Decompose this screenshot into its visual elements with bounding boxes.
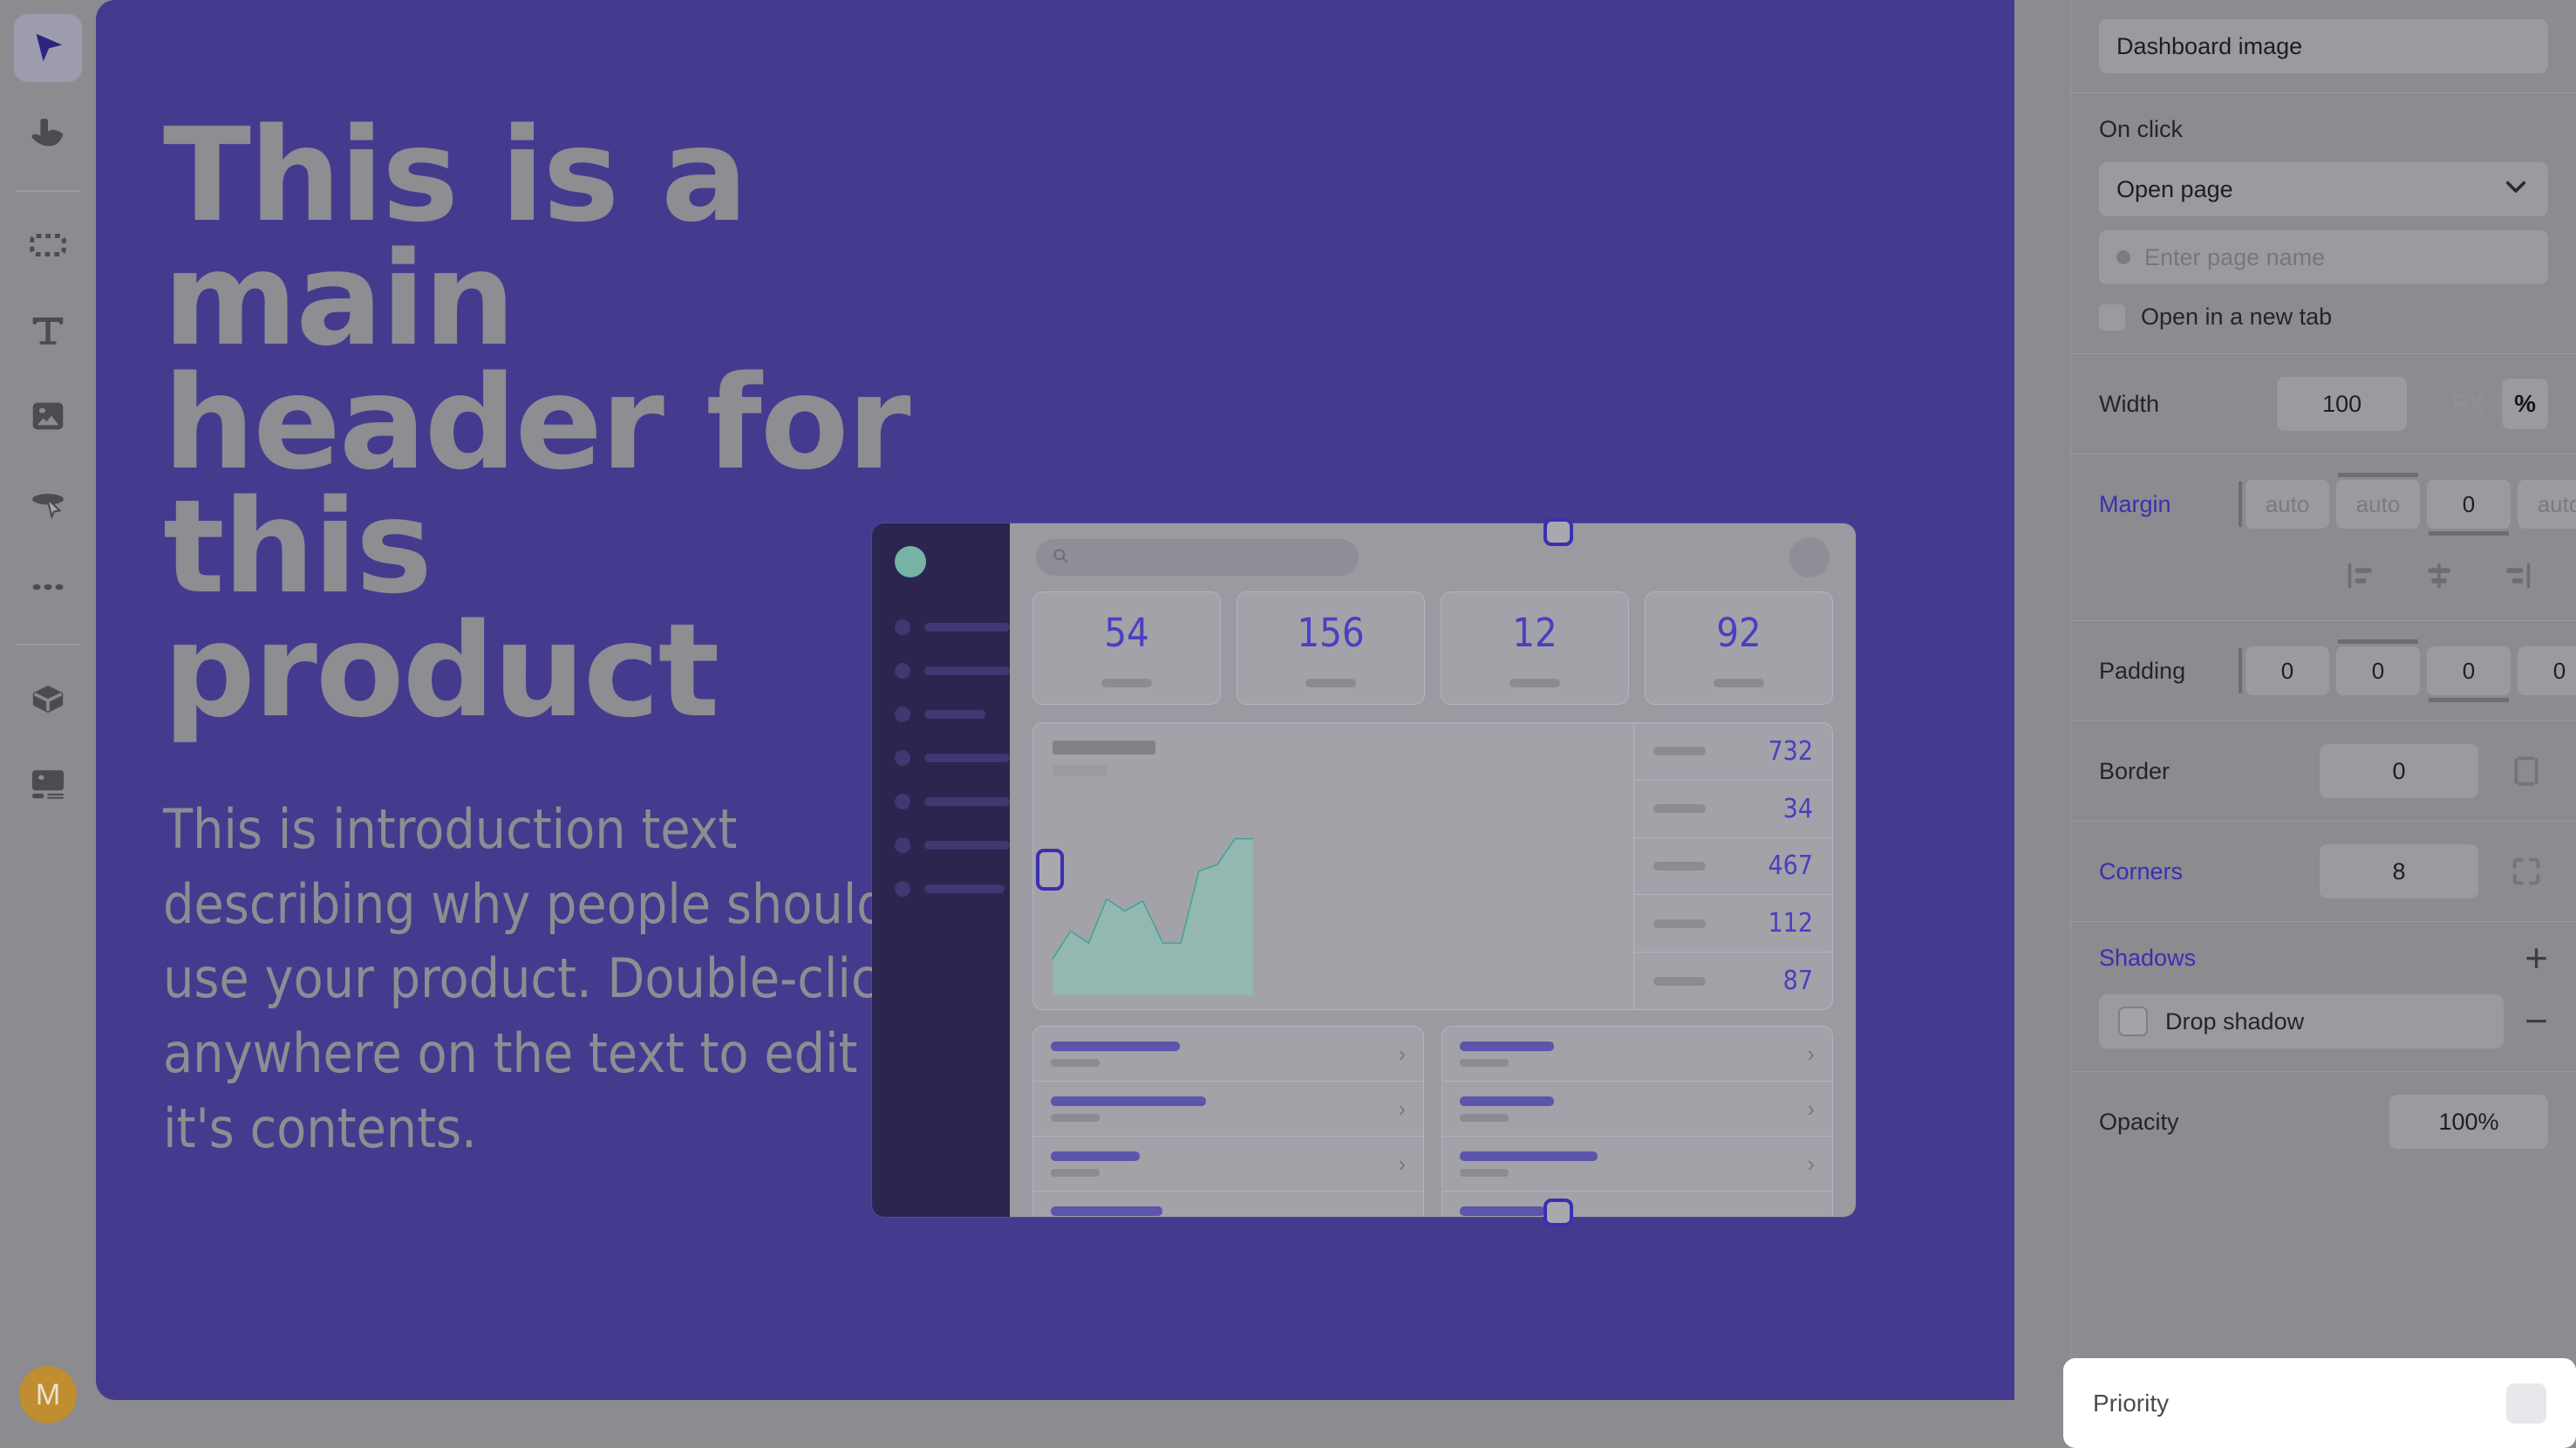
chevron-right-icon: › [1398,1042,1406,1065]
margin-quad: auto auto 0 auto [2239,480,2576,529]
media-tool[interactable] [14,750,82,818]
nav-label-placeholder [924,841,1010,850]
padding-top-input[interactable]: 0 [2336,646,2420,695]
row-label-placeholder [1653,747,1706,755]
hand-tool[interactable] [14,99,82,167]
ellipsis-icon [28,567,68,607]
image-icon [28,396,68,436]
element-name-input[interactable]: Dashboard image [2099,19,2548,73]
border-sides-icon[interactable] [2504,749,2548,793]
row-value: 87 [1783,966,1813,996]
align-right-icon[interactable] [2496,554,2539,598]
chevron-right-icon: › [1807,1042,1815,1065]
kpi-card: 12 [1441,591,1629,705]
width-value: 100 [2322,391,2361,418]
component-tool[interactable] [14,665,82,733]
margin-bottom-input[interactable]: 0 [2427,480,2511,529]
padding-left-input[interactable]: 0 [2245,646,2329,695]
list-title-placeholder [1460,1096,1554,1106]
search-icon [1052,547,1069,569]
padding-edge-left [2239,648,2242,693]
panel-border-section: Border 0 [2071,721,2576,822]
padding-bottom-input[interactable]: 0 [2427,646,2511,695]
list-sub-placeholder [1051,1059,1100,1067]
select-tool[interactable] [14,14,82,82]
resize-handle-bottom[interactable] [1544,1199,1573,1226]
area-chart [1033,723,1633,1009]
align-buttons [2099,554,2548,598]
padding-label: Padding [2099,658,2239,685]
width-row: Width 100 PX % [2099,377,2548,431]
dashboard-sidebar [872,523,1010,1217]
list-item: › [1442,1137,1832,1192]
chevron-right-icon: › [1807,1152,1815,1175]
dot-icon [895,837,910,853]
opacity-value: 100% [2438,1109,2498,1136]
kpi-card: 156 [1237,591,1425,705]
drop-shadow-checkbox[interactable] [2118,1007,2148,1036]
button-cursor-icon [28,482,68,522]
list-item: › [1442,1027,1832,1082]
dot-icon [895,663,910,679]
dashboard-nav [895,619,1010,897]
dot-icon [895,794,910,809]
list-item: › [1033,1082,1423,1137]
avatar-initial: M [36,1378,60,1412]
text-t-icon [28,311,68,351]
list-item-text [1460,1042,1554,1067]
list-title-placeholder [1460,1151,1598,1161]
panel-margin-section: Margin auto auto 0 auto [2071,454,2576,621]
cursor-arrow-icon [28,28,68,68]
open-new-tab-label: Open in a new tab [2141,304,2332,331]
image-tool[interactable] [14,382,82,450]
kpi-value: 54 [1104,610,1149,656]
element-name-value: Dashboard image [2116,33,2302,60]
margin-label: Margin [2099,491,2239,518]
dashboard-list-right: › › › › [1441,1026,1833,1217]
dashboard-topbar [1010,523,1856,591]
dashboard-nav-item [895,837,1010,853]
toolbar-divider-2 [16,644,80,645]
row-value: 467 [1768,850,1813,881]
open-new-tab-row[interactable]: Open in a new tab [2099,304,2548,331]
width-unit-percent-button[interactable]: % [2502,379,2548,429]
hero-paragraph[interactable]: This is introduction text describing why… [163,792,913,1165]
list-item: › [1033,1192,1423,1217]
list-item-text [1460,1151,1598,1177]
list-item-text [1051,1096,1206,1122]
shadow-item: Drop shadow − [2099,994,2548,1048]
dashboard-nav-item [895,619,1010,635]
dashed-rectangle-icon [28,225,68,265]
image-caption-icon [28,764,68,804]
chart-title-placeholder [1053,741,1155,755]
panel-name-section: Dashboard image [2071,0,2576,93]
margin-row: Margin auto auto 0 auto [2099,477,2548,531]
row-label-placeholder [1653,919,1706,928]
kpi-label-placeholder [1305,679,1356,687]
padding-quad: 0 0 0 0 [2239,646,2576,695]
resize-handle-left[interactable] [1036,849,1064,891]
align-center-icon[interactable] [2417,554,2461,598]
row-value: 732 [1768,736,1813,767]
drop-shadow-row[interactable]: Drop shadow [2099,994,2504,1048]
cube-icon [28,679,68,719]
dot-icon [895,881,910,897]
row-label-placeholder [1653,862,1706,871]
kpi-value: 156 [1297,610,1364,656]
panel-opacity-section: Opacity 100% [2071,1072,2576,1171]
list-item-text [1051,1042,1180,1067]
canvas[interactable]: This is a main header for this product T… [96,0,2014,1448]
kpi-value: 12 [1512,610,1557,656]
kpi-label-placeholder [1101,679,1152,687]
table-row: 467 [1634,838,1832,896]
width-label: Width [2099,391,2239,418]
margin-right-input[interactable]: auto [2518,480,2576,529]
open-new-tab-checkbox[interactable] [2099,304,2125,331]
list-title-placeholder [1460,1206,1545,1216]
width-input[interactable]: 100 [2277,377,2407,431]
nav-label-placeholder [924,754,1010,762]
dashboard-nav-item [895,663,1010,679]
list-item-text [1460,1206,1545,1217]
text-tool[interactable] [14,297,82,365]
kpi-value: 92 [1716,610,1762,656]
app-root: M This is a main header for this product… [0,0,2576,1448]
list-title-placeholder [1051,1042,1180,1051]
chevron-right-icon: › [1807,1208,1815,1218]
corners-row: Corners 8 [2099,844,2548,898]
panel-padding-section: Padding 0 0 0 0 [2071,621,2576,721]
toolbar-divider-1 [16,190,80,192]
border-label: Border [2099,758,2239,785]
row-value: 34 [1783,794,1813,824]
page-name-placeholder: Enter page name [2144,244,2325,271]
margin-top-input[interactable]: auto [2336,480,2420,529]
chevron-right-icon: › [1398,1152,1406,1175]
panel-shadows-section: Shadows + Drop shadow − [2071,922,2576,1072]
hero-text-block[interactable]: This is a main header for this product T… [163,113,913,1165]
dashboard-kpi-row: 54 156 12 92 [1010,591,1856,705]
list-title-placeholder [1051,1096,1206,1106]
page-dot-icon [2116,250,2130,264]
panel-corners-section: Corners 8 [2071,822,2576,922]
nav-label-placeholder [924,710,985,719]
dashboard-nav-item [895,881,1010,897]
table-row: 87 [1634,953,1832,1009]
list-item-text [1460,1096,1554,1122]
shadows-label: Shadows [2099,945,2196,972]
list-sub-placeholder [1460,1059,1509,1067]
dot-icon [895,707,910,722]
chevron-right-icon: › [1398,1208,1406,1218]
dashboard-logo-icon [895,546,926,577]
chevron-down-icon [2501,172,2531,208]
list-sub-placeholder [1051,1114,1100,1122]
add-shadow-button[interactable]: + [2525,946,2548,971]
resize-handle-top[interactable] [1544,518,1573,546]
dot-icon [895,750,910,766]
chart-side-table: 732 34 467 [1633,723,1832,1009]
corners-input[interactable]: 8 [2320,844,2478,898]
align-left-icon[interactable] [2339,554,2382,598]
priority-bar[interactable]: Priority [2063,1358,2576,1448]
dashboard-nav-item [895,750,1010,766]
dot-icon [895,619,910,635]
button-tool[interactable] [14,468,82,536]
row-value: 112 [1768,908,1813,939]
remove-shadow-button[interactable]: − [2525,1009,2548,1034]
list-title-placeholder [1051,1151,1140,1161]
corners-value: 8 [2392,858,2405,885]
chart-plot [1053,795,1253,995]
priority-toggle[interactable] [2506,1383,2546,1424]
nav-label-placeholder [924,666,1010,675]
nav-label-placeholder [924,623,1010,632]
page-title[interactable]: This is a main header for this product [163,113,913,733]
row-label-placeholder [1653,977,1706,986]
list-item-text [1051,1151,1140,1177]
list-item: › [1033,1137,1423,1192]
list-item: › [1033,1027,1423,1082]
list-sub-placeholder [1460,1114,1509,1122]
dashboard-nav-item [895,707,1010,722]
hero-section[interactable]: This is a main header for this product T… [96,0,2014,1400]
table-row: 112 [1634,895,1832,953]
row-label-placeholder [1653,804,1706,813]
padding-row: Padding 0 0 0 0 [2099,644,2548,698]
chevron-right-icon: › [1398,1097,1406,1120]
list-sub-placeholder [1051,1169,1100,1177]
opacity-input[interactable]: 100% [2389,1095,2548,1149]
kpi-card: 54 [1032,591,1221,705]
shadows-header: Shadows + [2099,945,2548,972]
container-tool[interactable] [14,211,82,279]
list-item: › [1442,1082,1832,1137]
more-tool[interactable] [14,553,82,621]
onclick-action-select[interactable]: Open page [2099,162,2548,216]
list-item: › [1442,1192,1832,1217]
table-row: 34 [1634,781,1832,838]
drop-shadow-label: Drop shadow [2165,1008,2304,1035]
dashboard-list-left: › › › › [1032,1026,1424,1217]
dashboard-image[interactable]: 54 156 12 92 [872,523,1856,1217]
width-unit-px-button[interactable]: PX [2445,379,2491,429]
opacity-label: Opacity [2099,1109,2239,1136]
nav-label-placeholder [924,885,1005,893]
panel-onclick-section: On click Open page Enter page name Open … [2071,93,2576,354]
chart-subtitle-placeholder [1053,765,1107,775]
left-toolbar: M [0,0,96,1448]
onclick-label: On click [2099,116,2548,143]
panel-width-section: Width 100 PX % [2071,354,2576,454]
kpi-label-placeholder [1509,679,1560,687]
properties-panel: Dashboard image On click Open page Enter… [2070,0,2576,1448]
padding-right-input[interactable]: 0 [2518,646,2576,695]
list-item-text [1051,1206,1162,1217]
hand-pointer-icon [28,113,68,154]
dashboard-chart-card: 732 34 467 [1032,722,1833,1010]
onclick-action-value: Open page [2116,176,2233,203]
border-value: 0 [2392,758,2405,785]
dashboard-search-input[interactable] [1036,539,1359,576]
dashboard-user-avatar[interactable] [1789,537,1830,577]
border-input[interactable]: 0 [2320,744,2478,798]
kpi-label-placeholder [1714,679,1764,687]
chevron-right-icon: › [1807,1097,1815,1120]
nav-label-placeholder [924,797,1010,806]
opacity-row: Opacity 100% [2099,1095,2548,1149]
dashboard-main: 54 156 12 92 [1010,523,1856,1217]
kpi-card: 92 [1645,591,1833,705]
page-name-input[interactable]: Enter page name [2099,230,2548,284]
list-title-placeholder [1051,1206,1162,1216]
dashboard-nav-item [895,794,1010,809]
margin-left-input[interactable]: auto [2245,480,2329,529]
corners-radius-icon[interactable] [2504,850,2548,893]
user-avatar[interactable]: M [19,1366,77,1424]
border-row: Border 0 [2099,744,2548,798]
list-sub-placeholder [1460,1169,1509,1177]
priority-label: Priority [2093,1390,2169,1417]
list-title-placeholder [1460,1042,1554,1051]
corners-label: Corners [2099,858,2239,885]
dashboard-list-row: › › › › [1010,1010,1856,1217]
margin-edge-left [2239,482,2242,527]
table-row: 732 [1634,723,1832,781]
